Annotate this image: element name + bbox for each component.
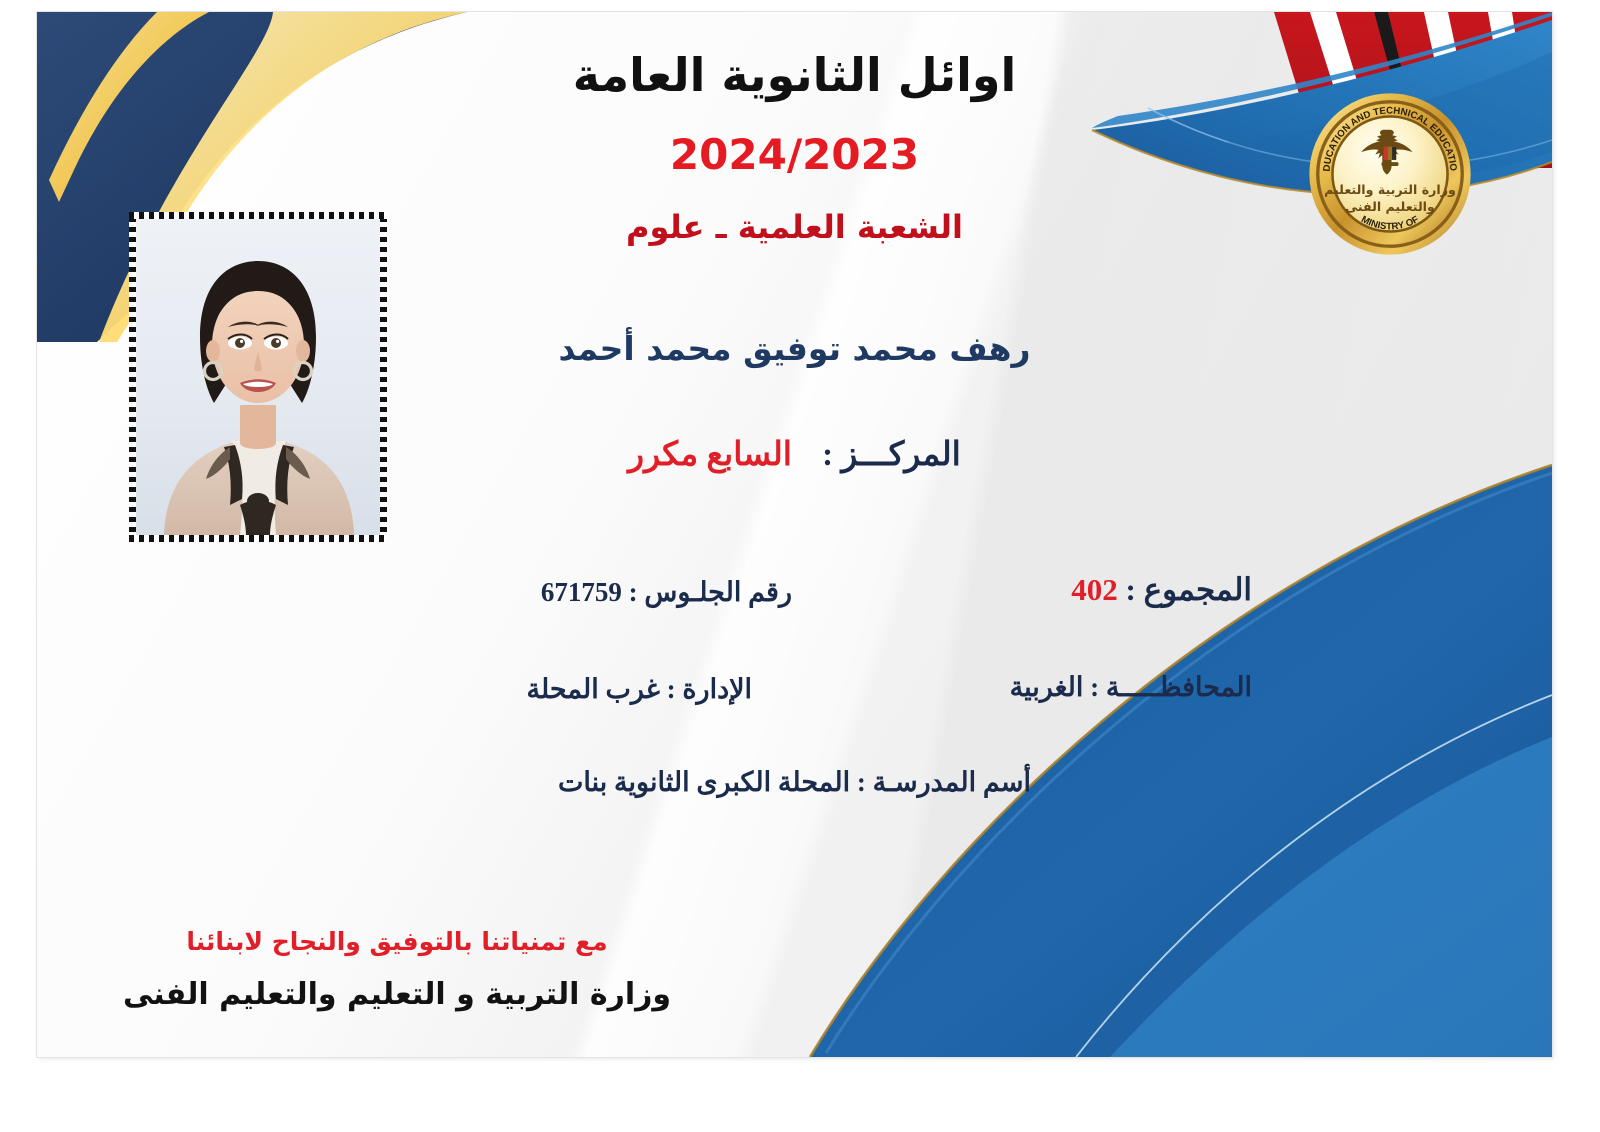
- seat-number-label: رقم الجلـوس :: [629, 577, 792, 607]
- student-name: رهف محمد توفيق محمد أحمد: [37, 329, 1552, 368]
- seat-number-row: رقم الجلـوس : 671759: [541, 577, 792, 608]
- administration-value: غرب المحلة: [527, 674, 660, 704]
- ministry-name: وزارة التربية و التعليم والتعليم الفنى: [37, 977, 757, 1012]
- school-label: أسم المدرسـة :: [857, 767, 1031, 797]
- certificate-page: EDUCATION AND TECHNICAL EDUCATION MINIST…: [0, 0, 1600, 1132]
- academic-year: 2024/2023: [37, 130, 1552, 179]
- school-row: أسم المدرسـة : المحلة الكبرى الثانوية بن…: [37, 767, 1552, 798]
- study-branch: الشعبة العلمية ـ علوم: [37, 208, 1552, 246]
- rank-value: السابع مكرر: [628, 437, 792, 473]
- governorate-row: المحافظـــــة : الغربية: [1010, 672, 1252, 703]
- decoration-bottom-right: [792, 437, 1552, 1057]
- administration-row: الإدارة : غرب المحلة: [527, 674, 752, 705]
- total-score-label: المجموع :: [1126, 572, 1253, 607]
- total-score-row: المجموع : 402: [1071, 572, 1252, 608]
- seat-number-value: 671759: [541, 577, 622, 608]
- administration-label: الإدارة :: [667, 674, 752, 704]
- seal-inner-line1: وزارة التربية والتعليم: [1324, 182, 1456, 197]
- student-photo: [136, 219, 380, 535]
- certificate-paper: EDUCATION AND TECHNICAL EDUCATION MINIST…: [37, 12, 1552, 1057]
- governorate-value: الغربية: [1010, 672, 1084, 702]
- wishes-text: مع تمنياتنا بالتوفيق والنجاح لابنائنا: [37, 927, 757, 956]
- rank-row: المركـــز : السابع مكرر: [37, 434, 1552, 474]
- school-value: المحلة الكبرى الثانوية بنات: [558, 767, 850, 797]
- rank-label: المركـــز :: [822, 437, 961, 473]
- student-portrait-illustration: [136, 219, 380, 535]
- governorate-label: المحافظـــــة :: [1090, 672, 1252, 702]
- total-score-value: 402: [1071, 572, 1118, 608]
- student-photo-frame: [129, 212, 387, 542]
- page-title: اوائل الثانوية العامة: [37, 48, 1552, 102]
